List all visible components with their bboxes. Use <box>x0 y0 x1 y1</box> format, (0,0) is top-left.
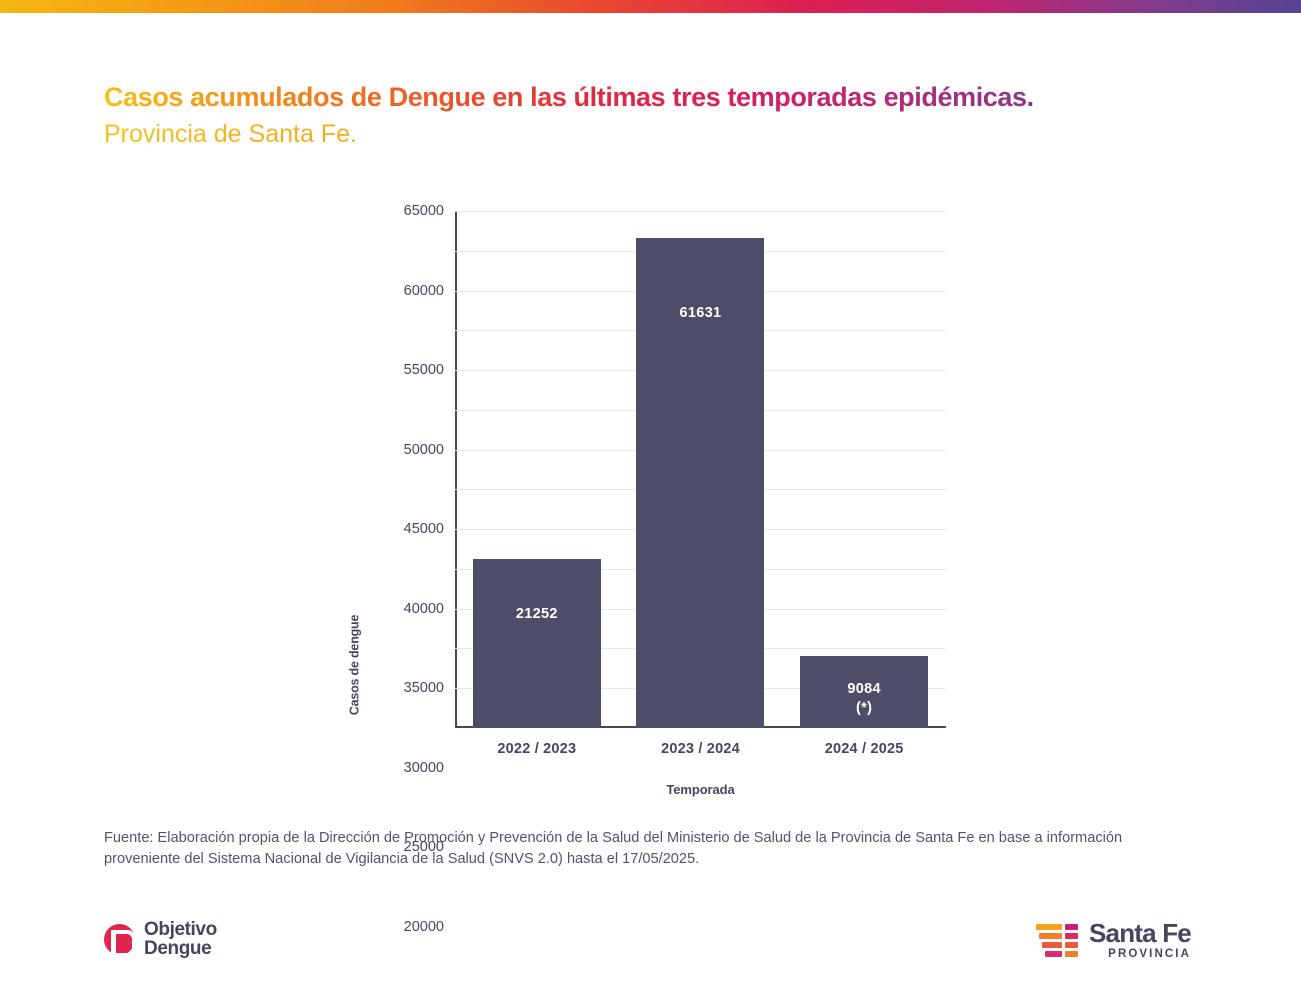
santa-fe-flag-icon <box>1036 924 1078 957</box>
santa-fe-sub: PROVINCIA <box>1089 949 1191 961</box>
bar[interactable]: 212522022 / 2023 <box>473 559 601 728</box>
bar-annotation: (*) <box>800 699 928 718</box>
santa-fe-stripe <box>1036 924 1062 930</box>
page-subtitle: Provincia de Santa Fe. <box>104 118 1244 150</box>
bar-value-label: 9084(*) <box>800 680 928 718</box>
y-tick-label: 20000 <box>404 919 444 935</box>
source-note: Fuente: Elaboración propia de la Direcci… <box>104 828 1184 870</box>
top-gradient-bar <box>0 0 1301 13</box>
objetivo-dengue-line2: Dengue <box>144 939 217 958</box>
bar-series: 212522022 / 2023616312023 / 20249084(*)2… <box>455 211 946 728</box>
y-axis-title-text: Casos de dengue <box>347 615 361 716</box>
santa-fe-stripe <box>1065 933 1078 939</box>
plot-area: 0500010000150002000025000300003500040000… <box>455 211 946 728</box>
bar[interactable]: 616312023 / 2024 <box>636 238 764 728</box>
objetivo-dengue-wordmark: Objetivo Dengue <box>144 920 217 958</box>
y-tick-label: 45000 <box>404 521 444 537</box>
y-tick-label: 40000 <box>404 601 444 617</box>
x-tick-label: 2022 / 2023 <box>473 741 601 757</box>
santa-fe-stripe <box>1065 942 1078 948</box>
bar-slot: 9084(*)2024 / 2025 <box>782 211 946 728</box>
logo-santa-fe: Santa Fe PROVINCIA <box>1036 920 1191 961</box>
y-tick-label: 55000 <box>404 362 444 378</box>
santa-fe-stripe <box>1065 924 1078 930</box>
bar-slot: 616312023 / 2024 <box>619 211 783 728</box>
santa-fe-stripe <box>1039 933 1062 939</box>
y-axis-title: Casos de dengue <box>344 595 364 735</box>
santa-fe-stripe <box>1045 951 1062 957</box>
bar-value-label: 61631 <box>636 304 764 323</box>
page-title: Casos acumulados de Dengue en las última… <box>104 80 1244 114</box>
y-tick-label: 65000 <box>404 203 444 219</box>
slide-root: Casos acumulados de Dengue en las última… <box>0 0 1301 995</box>
objetivo-dengue-line1: Objetivo <box>144 920 217 939</box>
y-tick-label: 35000 <box>404 680 444 696</box>
y-tick-label: 60000 <box>404 283 444 299</box>
bar-value-label: 21252 <box>473 605 601 624</box>
y-tick-label: 30000 <box>404 760 444 776</box>
santa-fe-wordmark: Santa Fe PROVINCIA <box>1089 920 1191 961</box>
bar-chart: Casos de dengue 050001000015000200002500… <box>0 195 1301 810</box>
santa-fe-stripe <box>1042 942 1062 948</box>
logo-objetivo-dengue: Objetivo Dengue <box>104 920 217 958</box>
santa-fe-name: Santa Fe <box>1089 920 1191 946</box>
x-tick-label: 2023 / 2024 <box>636 741 764 757</box>
heading-block: Casos acumulados de Dengue en las última… <box>104 80 1244 150</box>
bar-slot: 212522022 / 2023 <box>455 211 619 728</box>
y-tick-label: 50000 <box>404 442 444 458</box>
gridline: 0 <box>455 728 946 729</box>
x-tick-label: 2024 / 2025 <box>800 741 928 757</box>
x-axis-title: Temporada <box>455 782 946 797</box>
bar[interactable]: 9084(*)2024 / 2025 <box>800 656 928 728</box>
santa-fe-stripe <box>1065 951 1078 957</box>
objetivo-dengue-d-icon <box>104 924 135 955</box>
